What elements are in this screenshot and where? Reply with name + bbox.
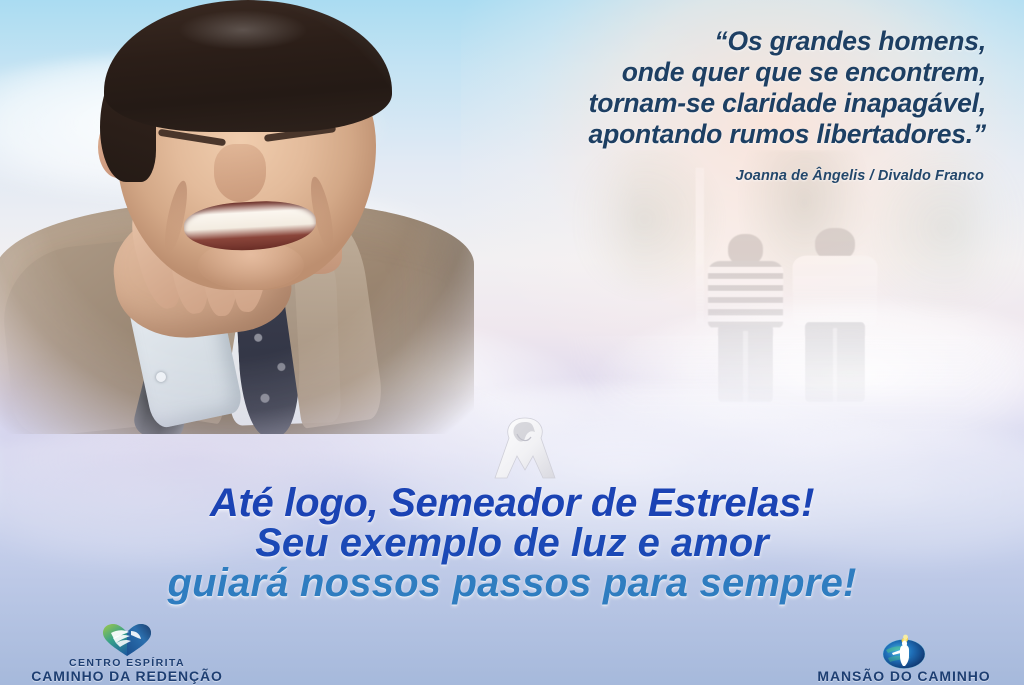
quote-text: “Os grandes homens, onde quer que se enc… bbox=[426, 26, 986, 150]
hands-heart-logo bbox=[101, 623, 153, 657]
white-awareness-ribbon bbox=[487, 408, 563, 488]
person-white-shirt bbox=[790, 228, 879, 402]
quote-attribution: Joanna de Ângelis / Divaldo Franco bbox=[424, 168, 984, 184]
quote-line-4: apontando rumos libertadores.” bbox=[426, 119, 986, 150]
hair-highlight bbox=[178, 10, 308, 50]
portrait-fade-mask bbox=[0, 0, 488, 434]
quote-line-2: onde quer que se encontrem, bbox=[426, 57, 986, 88]
mansao-do-caminho-label: MANSÃO DO CAMINHO bbox=[794, 670, 1014, 683]
headline-text: Até logo, Semeador de Estrelas! Seu exem… bbox=[0, 483, 1024, 603]
headline-line-3: guiará nossos passos para sempre! bbox=[0, 563, 1024, 603]
headline-line-2: Seu exemplo de luz e amor bbox=[0, 523, 1024, 563]
pole bbox=[696, 168, 704, 324]
headline-line-1: Até logo, Semeador de Estrelas! bbox=[0, 483, 1024, 523]
person-striped-shirt bbox=[706, 234, 786, 402]
cuff-button bbox=[156, 372, 166, 382]
quote-line-3: tornam-se claridade inapagável, bbox=[426, 88, 986, 119]
memorial-poster: “Os grandes homens, onde quer que se enc… bbox=[0, 0, 1024, 685]
centro-espirita-label-line2: CAMINHO DA REDENÇÃO bbox=[14, 670, 240, 683]
mansao-do-caminho-logo-block: MANSÃO DO CAMINHO bbox=[794, 632, 1014, 683]
portrait-man-with-microphone bbox=[0, 0, 488, 434]
torso bbox=[708, 261, 783, 328]
globe-torch-bearer-logo bbox=[879, 632, 929, 670]
torso bbox=[793, 256, 877, 326]
centro-espirita-logo-block: CENTRO ESPÍRITA CAMINHO DA REDENÇÃO bbox=[14, 623, 240, 683]
nose bbox=[214, 144, 266, 202]
quote-line-1: “Os grandes homens, bbox=[426, 26, 986, 57]
